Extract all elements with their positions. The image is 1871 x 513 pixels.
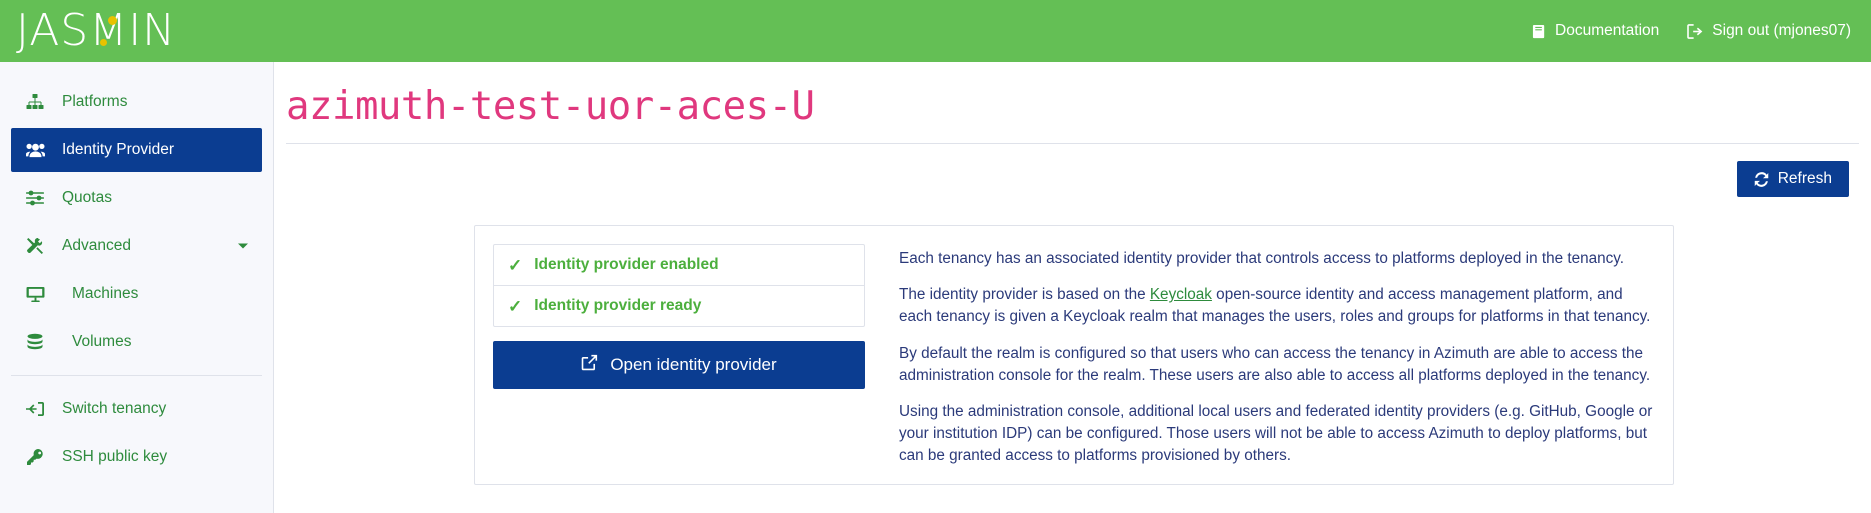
jasmin-logo: JASMIN: [16, 9, 176, 53]
book-icon: [1532, 24, 1547, 39]
sliders-icon: [20, 190, 50, 206]
description-paragraph-3: By default the realm is configured so th…: [899, 343, 1655, 387]
sidebar-item-switch-tenancy[interactable]: Switch tenancy: [11, 387, 262, 431]
sidebar-label-machines: Machines: [72, 285, 138, 303]
documentation-label: Documentation: [1555, 22, 1659, 40]
key-icon: [20, 448, 50, 466]
sidebar-label-ssh-public-key: SSH public key: [62, 448, 167, 466]
logo-dot-lower: [100, 39, 107, 46]
page-title: azimuth-test-uor-aces-U: [286, 84, 1871, 129]
status-label-enabled: Identity provider enabled: [534, 256, 718, 274]
card-left-column: ✓ Identity provider enabled ✓ Identity p…: [493, 244, 865, 466]
status-item-ready: ✓ Identity provider ready: [494, 286, 864, 326]
monitor-icon: [20, 286, 50, 303]
tools-icon: [20, 237, 50, 255]
app-header: JASMIN Documentation Sign out (mjones07): [0, 0, 1871, 62]
signout-icon: [1687, 24, 1704, 39]
database-icon: [20, 333, 50, 351]
sitemap-icon: [20, 93, 50, 111]
sidebar-label-volumes: Volumes: [72, 333, 131, 351]
main-content: azimuth-test-uor-aces-U Refresh ✓ Identi…: [274, 62, 1871, 513]
description-paragraph-2: The identity provider is based on the Ke…: [899, 284, 1655, 328]
sidebar-label-quotas: Quotas: [62, 189, 112, 207]
paragraph2-prefix: The identity provider is based on the: [899, 286, 1150, 303]
check-icon: ✓: [508, 298, 522, 315]
documentation-link[interactable]: Documentation: [1532, 22, 1659, 40]
external-link-icon: [581, 354, 598, 376]
refresh-label: Refresh: [1778, 170, 1832, 188]
open-identity-provider-label: Open identity provider: [610, 355, 776, 375]
signin-arrow-icon: [20, 401, 50, 417]
users-icon: [20, 142, 50, 158]
brand-text: JASMIN: [16, 9, 176, 53]
sidebar-item-volumes[interactable]: Volumes: [11, 320, 262, 364]
identity-provider-card: ✓ Identity provider enabled ✓ Identity p…: [474, 225, 1674, 485]
description-paragraph-1: Each tenancy has an associated identity …: [899, 248, 1655, 270]
check-icon: ✓: [508, 257, 522, 274]
sidebar: Platforms Identity Provider: [0, 62, 274, 513]
sidebar-label-identity-provider: Identity Provider: [62, 141, 174, 159]
sidebar-item-advanced[interactable]: Advanced: [11, 224, 262, 268]
logo-dot-upper: [108, 16, 117, 25]
refresh-icon: [1754, 172, 1769, 187]
open-identity-provider-button[interactable]: Open identity provider: [493, 341, 865, 389]
sidebar-label-switch-tenancy: Switch tenancy: [62, 400, 166, 418]
sidebar-item-ssh-public-key[interactable]: SSH public key: [11, 435, 262, 479]
sidebar-label-advanced: Advanced: [62, 237, 131, 255]
title-divider: [286, 143, 1859, 144]
status-list: ✓ Identity provider enabled ✓ Identity p…: [493, 244, 865, 327]
header-actions: Documentation Sign out (mjones07): [1532, 22, 1851, 40]
sidebar-item-platforms[interactable]: Platforms: [11, 80, 262, 124]
signout-label: Sign out (mjones07): [1712, 22, 1851, 40]
sidebar-divider: [11, 375, 262, 376]
sidebar-item-identity-provider[interactable]: Identity Provider: [11, 128, 262, 172]
status-label-ready: Identity provider ready: [534, 297, 701, 315]
refresh-button[interactable]: Refresh: [1737, 161, 1849, 197]
sidebar-label-platforms: Platforms: [62, 93, 127, 111]
status-item-enabled: ✓ Identity provider enabled: [494, 245, 864, 286]
description-paragraph-4: Using the administration console, additi…: [899, 401, 1655, 468]
sidebar-item-quotas[interactable]: Quotas: [11, 176, 262, 220]
card-description: Each tenancy has an associated identity …: [865, 244, 1655, 466]
keycloak-link[interactable]: Keycloak: [1150, 286, 1212, 303]
signout-link[interactable]: Sign out (mjones07): [1687, 22, 1851, 40]
toolbar: Refresh: [274, 161, 1849, 197]
sidebar-item-machines[interactable]: Machines: [11, 272, 262, 316]
chevron-down-icon[interactable]: [238, 244, 248, 249]
